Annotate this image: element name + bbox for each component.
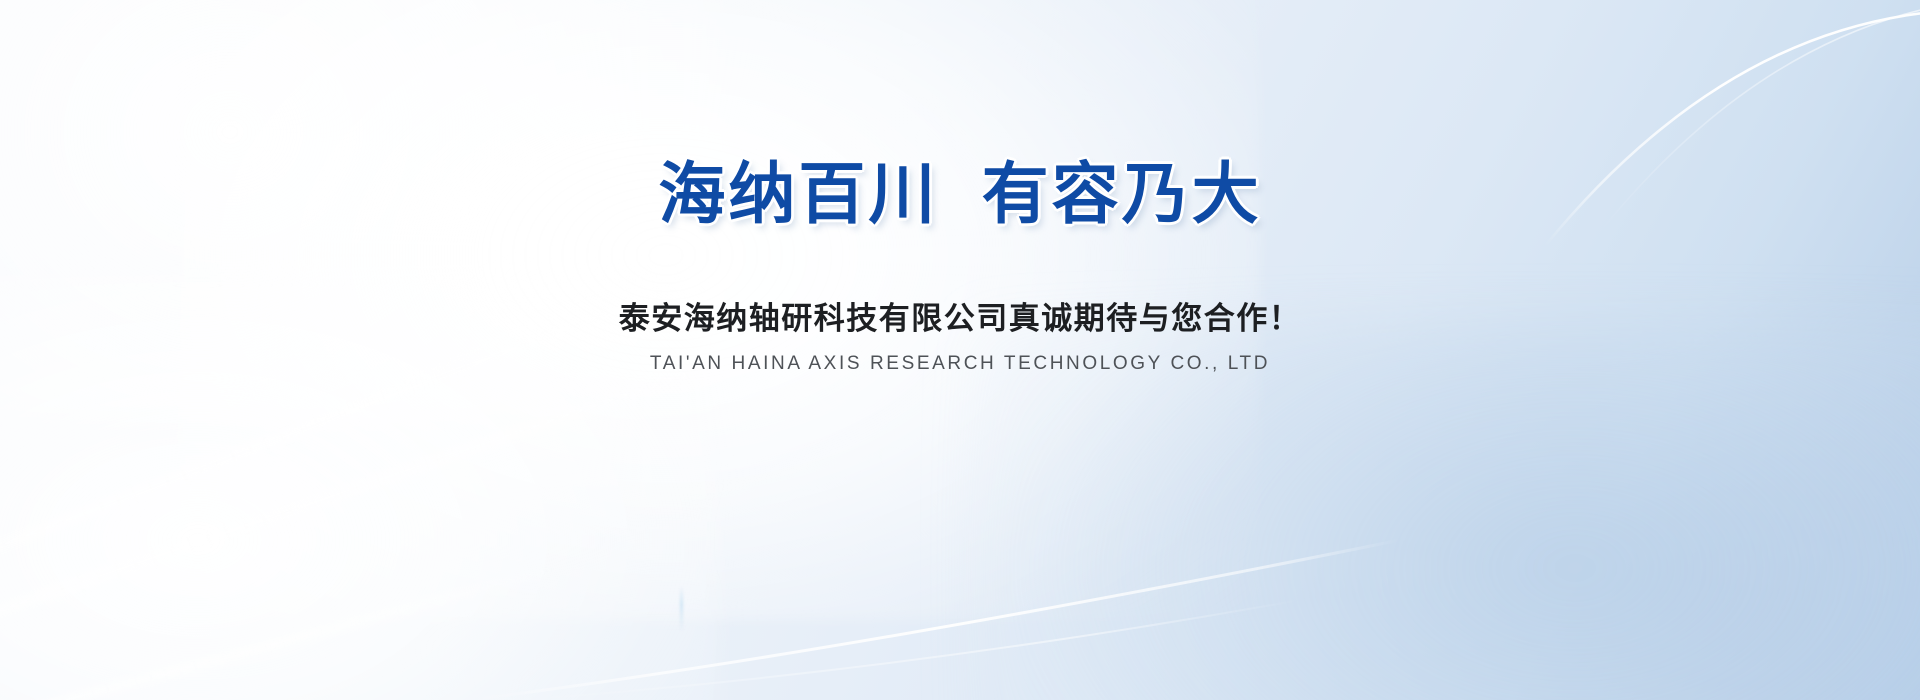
hero-banner: 海纳百川 有容乃大 泰安海纳轴研科技有限公司真诚期待与您合作！ TAI'AN H… xyxy=(0,0,1920,700)
banner-subtitle-chinese: 泰安海纳轴研科技有限公司真诚期待与您合作！ xyxy=(619,293,1302,338)
banner-subtitle-english: TAI'AN HAINA AXIS RESEARCH TECHNOLOGY CO… xyxy=(650,353,1270,375)
decorative-arcs xyxy=(0,0,1920,700)
banner-content: 海纳百川 有容乃大 泰安海纳轴研科技有限公司真诚期待与您合作！ TAI'AN H… xyxy=(0,0,1920,700)
background-glow-center xyxy=(180,0,1260,620)
background-glow-top-left xyxy=(0,0,720,420)
bottom-center-arc xyxy=(470,540,1400,700)
vertical-flare-icon xyxy=(680,586,683,632)
banner-headline: 海纳百川 有容乃大 xyxy=(658,158,1261,232)
light-streak-two xyxy=(0,359,717,662)
background-shade-bottom-right xyxy=(970,320,1920,700)
top-right-secondary-arc xyxy=(1600,2,1920,232)
bottom-center-secondary-arc xyxy=(520,600,1300,700)
light-streak-upper xyxy=(163,258,677,491)
top-right-sweeping-arc xyxy=(1545,10,1920,246)
light-streak-three xyxy=(0,562,569,700)
background-glow-bottom-left xyxy=(0,270,720,700)
light-streak-one xyxy=(0,283,674,585)
